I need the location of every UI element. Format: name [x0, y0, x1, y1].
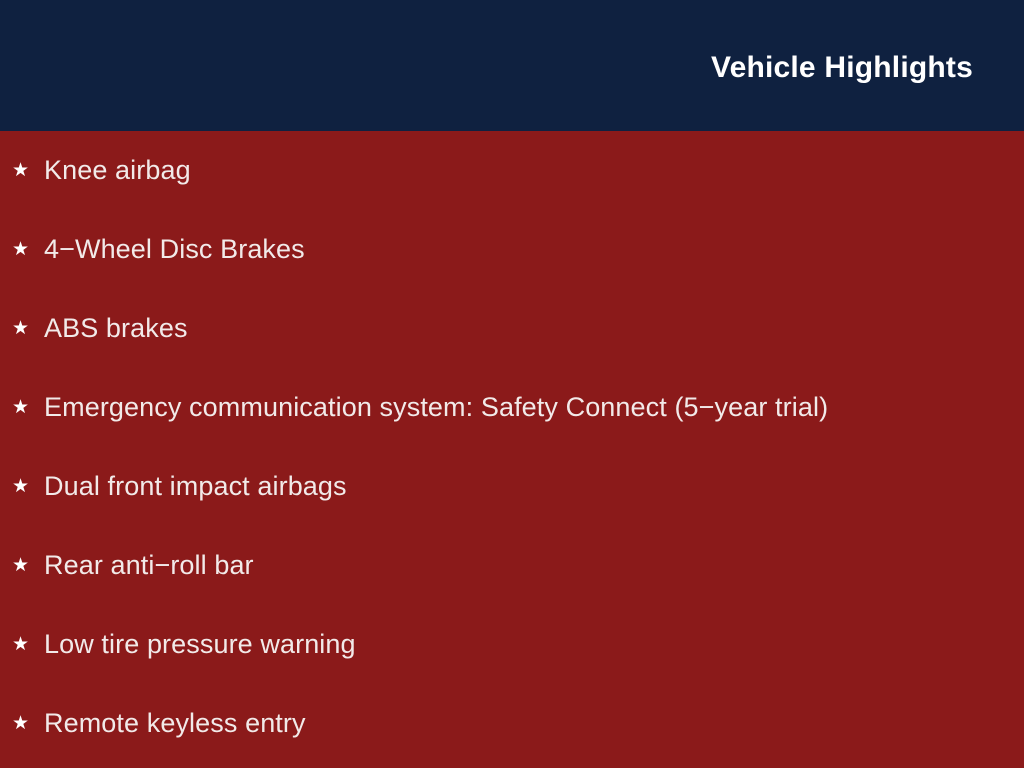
star-bullet-icon: ★ — [12, 714, 44, 733]
star-bullet-icon: ★ — [12, 161, 44, 180]
page-title: Vehicle Highlights — [711, 53, 973, 83]
star-bullet-icon: ★ — [12, 477, 44, 496]
list-item: ★ Rear anti−roll bar — [0, 526, 1024, 605]
star-bullet-icon: ★ — [12, 556, 44, 575]
highlight-label: Dual front impact airbags — [44, 471, 347, 502]
list-item: ★ ABS brakes — [0, 289, 1024, 368]
highlight-label: Low tire pressure warning — [44, 629, 356, 660]
list-item: ★ Dual front impact airbags — [0, 447, 1024, 526]
highlight-label: 4−Wheel Disc Brakes — [44, 234, 305, 265]
slide-header-band: Vehicle Highlights — [0, 0, 1024, 131]
list-item: ★ Remote keyless entry — [0, 684, 1024, 763]
list-item: ★ Knee airbag — [0, 131, 1024, 210]
highlight-label: Knee airbag — [44, 155, 191, 186]
list-item: ★ 4−Wheel Disc Brakes — [0, 210, 1024, 289]
highlight-label: Remote keyless entry — [44, 708, 306, 739]
list-item: ★ Low tire pressure warning — [0, 605, 1024, 684]
vehicle-highlights-slide: Vehicle Highlights ★ Knee airbag ★ 4−Whe… — [0, 0, 1024, 768]
highlight-label: Rear anti−roll bar — [44, 550, 254, 581]
star-bullet-icon: ★ — [12, 398, 44, 417]
star-bullet-icon: ★ — [12, 319, 44, 338]
star-bullet-icon: ★ — [12, 635, 44, 654]
list-item: ★ Emergency communication system: Safety… — [0, 368, 1024, 447]
vehicle-highlights-list: ★ Knee airbag ★ 4−Wheel Disc Brakes ★ AB… — [0, 131, 1024, 768]
highlight-label: Emergency communication system: Safety C… — [44, 392, 828, 423]
star-bullet-icon: ★ — [12, 240, 44, 259]
highlight-label: ABS brakes — [44, 313, 188, 344]
